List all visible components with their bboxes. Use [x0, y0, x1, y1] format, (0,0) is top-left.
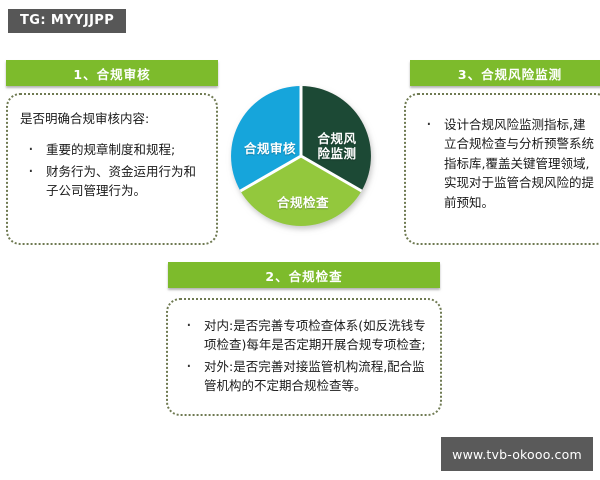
list-item: 对外:是否完善对接监管机构流程,配合监管机构的不定期合规检查等。 [182, 357, 428, 396]
panel-body-left: 是否明确合规审核内容: 重要的规章制度和规程; 财务行为、资金运用行为和子公司管… [8, 95, 216, 213]
tg-badge: TG: MYYJJPP [8, 9, 126, 33]
list-item: 设计合规风险监测指标,建立合规检查与分析预警系统指标库,覆盖关键管理领域,实现对… [422, 115, 596, 212]
panel-body-bottom: 对内:是否完善专项检查体系(如反洗钱专项检查)每年是否定期开展合规专项检查; 对… [168, 300, 440, 408]
pie-label-compliance-audit: 合规审核 [234, 142, 306, 157]
panel-box-compliance-audit: 是否明确合规审核内容: 重要的规章制度和规程; 财务行为、资金运用行为和子公司管… [6, 93, 218, 245]
panel-box-compliance-risk-monitoring: 设计合规风险监测指标,建立合规检查与分析预警系统指标库,覆盖关键管理领域,实现对… [404, 93, 600, 245]
list-item: 对内:是否完善专项检查体系(如反洗钱专项检查)每年是否定期开展合规专项检查; [182, 316, 428, 355]
panel-header-compliance-audit: 1、合规审核 [6, 60, 218, 86]
left-bullet-list: 重要的规章制度和规程; 财务行为、资金运用行为和子公司管理行为。 [20, 140, 204, 200]
pie-label-compliance-inspection: 合规检查 [264, 196, 342, 211]
pie-label-compliance-risk-monitoring: 合规风 险监测 [306, 132, 368, 162]
pie-chart: 合规审核 合规风 险监测 合规检查 [222, 80, 380, 236]
panel-header-compliance-inspection: 2、合规检查 [168, 262, 440, 288]
list-item: 财务行为、资金运用行为和子公司管理行为。 [24, 162, 204, 201]
right-bullet-list: 设计合规风险监测指标,建立合规检查与分析预警系统指标库,覆盖关键管理领域,实现对… [418, 115, 596, 212]
site-watermark: www.tvb-okooo.com [441, 437, 593, 471]
panel-header-compliance-risk-monitoring: 3、合规风险监测 [410, 60, 600, 86]
bottom-bullet-list: 对内:是否完善专项检查体系(如反洗钱专项检查)每年是否定期开展合规专项检查; 对… [178, 316, 428, 396]
panel-box-compliance-inspection: 对内:是否完善专项检查体系(如反洗钱专项检查)每年是否定期开展合规专项检查; 对… [166, 298, 442, 416]
left-lead-text: 是否明确合规审核内容: [20, 109, 204, 128]
panel-body-right: 设计合规风险监测指标,建立合规检查与分析预警系统指标库,覆盖关键管理领域,实现对… [406, 95, 600, 224]
list-item: 重要的规章制度和规程; [24, 140, 204, 159]
